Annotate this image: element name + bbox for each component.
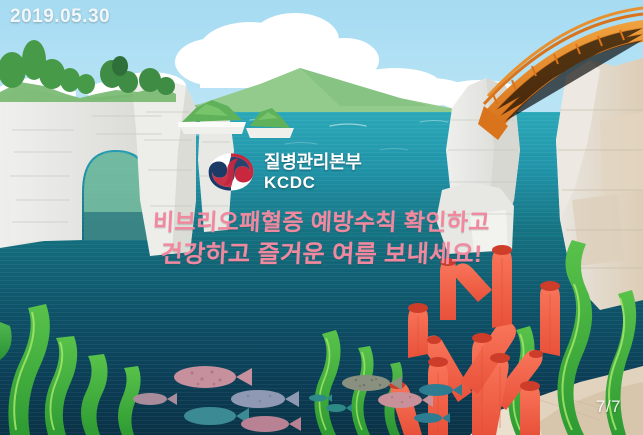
taegeuk-emblem-icon: [207, 152, 255, 192]
poster-slide: 2019.05.30 질병관리본부 KCDC 비브리오패혈증 예방수칙 확인하고…: [0, 0, 643, 435]
headline-block: 비브리오패혈증 예방수칙 확인하고 건강하고 즐거운 여름 보내세요!: [0, 208, 643, 271]
logo-org-name-kr: 질병관리본부: [264, 153, 362, 171]
logo-org-name-en: KCDC: [264, 174, 362, 191]
page-indicator: 7/7: [596, 397, 621, 417]
logo-text-block: 질병관리본부 KCDC: [264, 153, 362, 191]
kcdc-logo: 질병관리본부 KCDC: [207, 152, 362, 192]
headline-line-2: 건강하고 즐거운 여름 보내세요!: [0, 240, 643, 271]
headline-line-1: 비브리오패혈증 예방수칙 확인하고: [0, 208, 643, 237]
date-stamp: 2019.05.30: [10, 6, 110, 28]
